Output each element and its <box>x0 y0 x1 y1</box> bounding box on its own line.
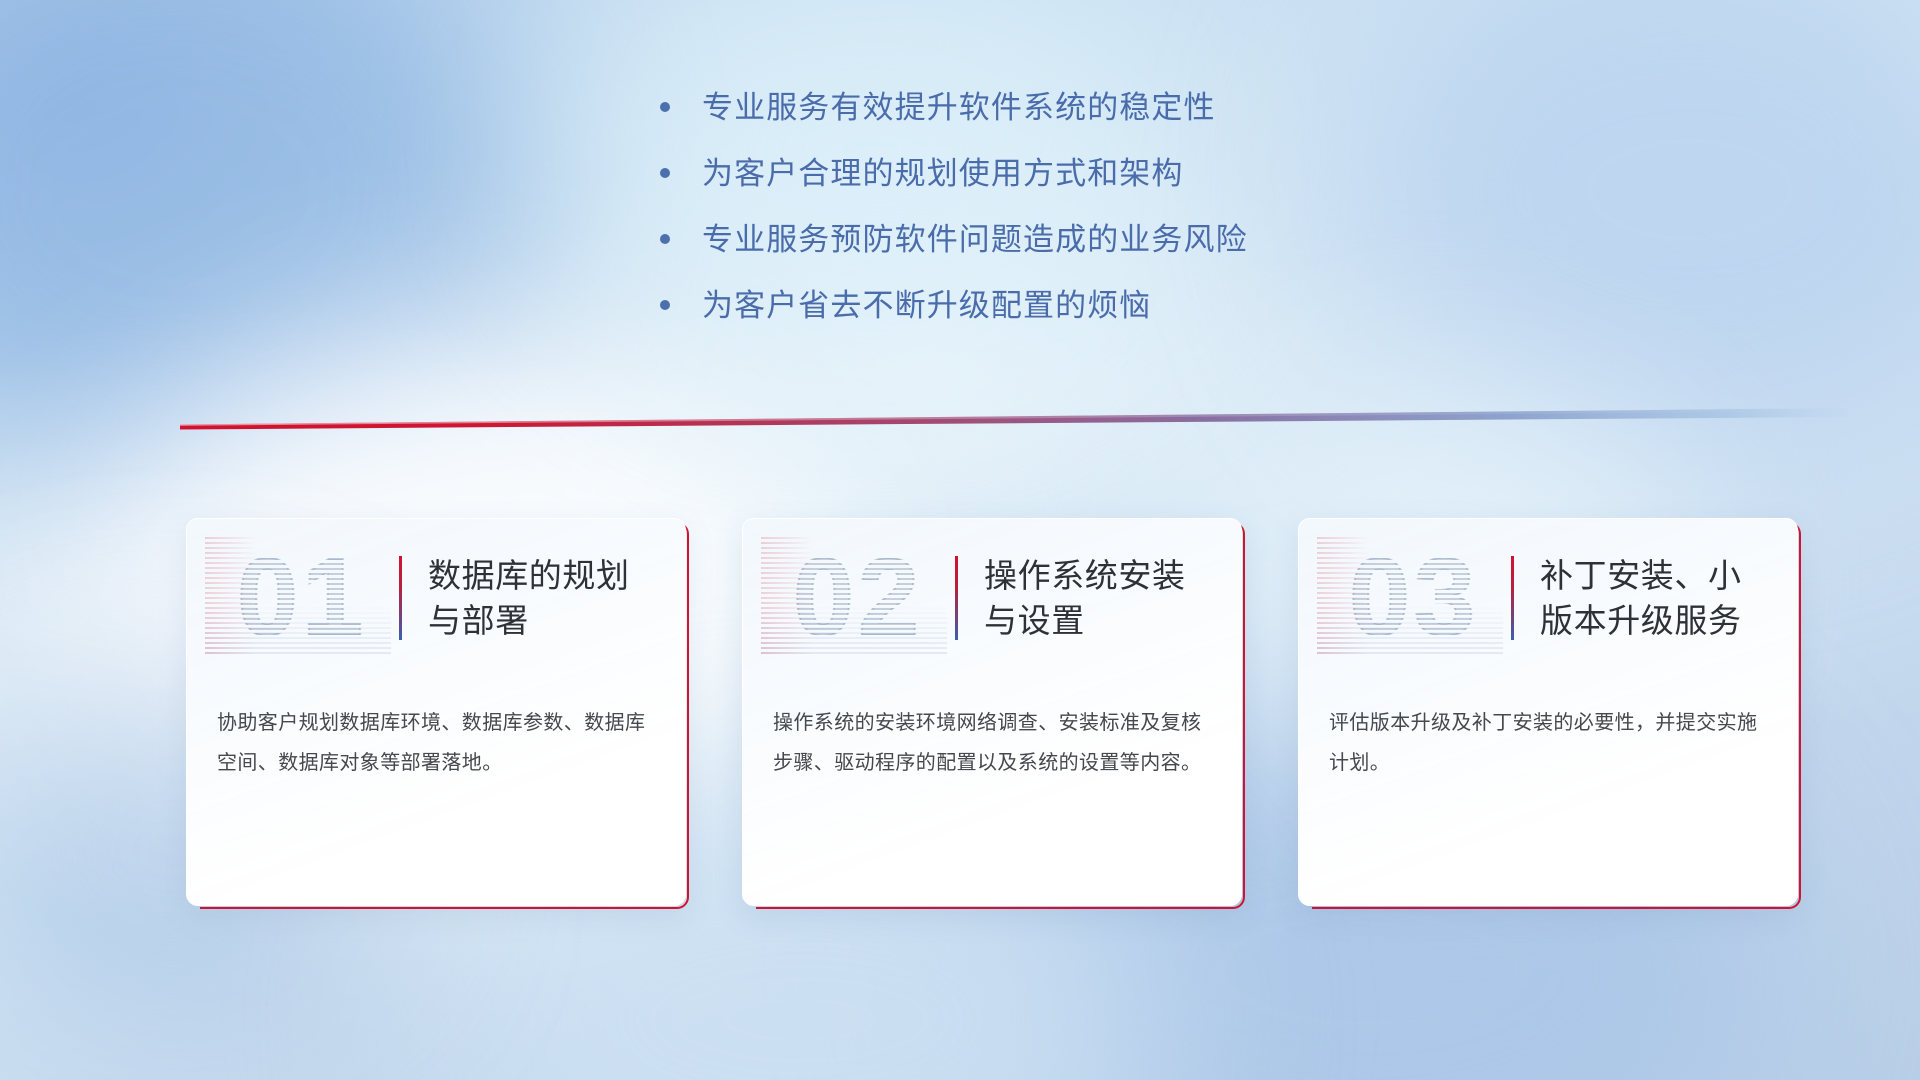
service-card[interactable]: 01 数据库的规划与部署 协助客户规划数据库环境、数据库参数、数据库空间、数据库… <box>186 518 686 906</box>
bullet-item: 为客户合理的规划使用方式和架构 <box>660 154 1560 220</box>
service-card-list: 01 数据库的规划与部署 协助客户规划数据库环境、数据库参数、数据库空间、数据库… <box>186 518 1798 906</box>
card-title-accent-bar <box>1511 556 1514 640</box>
card-number-watermark: 03 <box>1321 538 1507 658</box>
card-description: 评估版本升级及补丁安装的必要性，并提交实施计划。 <box>1299 677 1797 783</box>
bullet-item: 专业服务预防软件问题造成的业务风险 <box>660 220 1560 286</box>
background-gradient-blob <box>0 0 540 500</box>
bullet-dot-icon <box>660 168 670 178</box>
slide-canvas: 专业服务有效提升软件系统的稳定性 为客户合理的规划使用方式和架构 专业服务预防软… <box>0 0 1920 1080</box>
card-surface: 01 数据库的规划与部署 协助客户规划数据库环境、数据库参数、数据库空间、数据库… <box>186 518 686 906</box>
card-header: 02 操作系统安装与设置 <box>743 519 1241 677</box>
card-title-accent-bar <box>955 556 958 640</box>
card-number-watermark: 02 <box>765 538 951 658</box>
bullet-dot-icon <box>660 102 670 112</box>
bullet-item-label: 专业服务有效提升软件系统的稳定性 <box>702 88 1216 128</box>
bullet-dot-icon <box>660 300 670 310</box>
bullet-dot-icon <box>660 234 670 244</box>
card-surface: 03 补丁安装、小版本升级服务 评估版本升级及补丁安装的必要性，并提交实施计划。 <box>1298 518 1798 906</box>
card-header: 03 补丁安装、小版本升级服务 <box>1299 519 1797 677</box>
card-title: 补丁安装、小版本升级服务 <box>1540 553 1755 643</box>
card-header: 01 数据库的规划与部署 <box>187 519 685 677</box>
card-description: 操作系统的安装环境网络调查、安装标准及复核步骤、驱动程序的配置以及系统的设置等内… <box>743 677 1241 783</box>
service-card[interactable]: 03 补丁安装、小版本升级服务 评估版本升级及补丁安装的必要性，并提交实施计划。 <box>1298 518 1798 906</box>
card-description: 协助客户规划数据库环境、数据库参数、数据库空间、数据库对象等部署落地。 <box>187 677 685 783</box>
card-number-watermark: 01 <box>209 538 395 658</box>
benefits-bullet-list: 专业服务有效提升软件系统的稳定性 为客户合理的规划使用方式和架构 专业服务预防软… <box>660 88 1560 352</box>
card-title: 数据库的规划与部署 <box>428 553 643 643</box>
bullet-item: 专业服务有效提升软件系统的稳定性 <box>660 88 1560 154</box>
section-divider <box>180 408 1848 434</box>
bullet-item-label: 为客户合理的规划使用方式和架构 <box>702 154 1184 194</box>
service-card[interactable]: 02 操作系统安装与设置 操作系统的安装环境网络调查、安装标准及复核步骤、驱动程… <box>742 518 1242 906</box>
bullet-item: 为客户省去不断升级配置的烦恼 <box>660 286 1560 352</box>
card-surface: 02 操作系统安装与设置 操作系统的安装环境网络调查、安装标准及复核步骤、驱动程… <box>742 518 1242 906</box>
card-title: 操作系统安装与设置 <box>984 553 1199 643</box>
card-title-accent-bar <box>399 556 402 640</box>
divider-tapered-line-icon <box>180 408 1848 434</box>
bullet-item-label: 专业服务预防软件问题造成的业务风险 <box>702 220 1248 260</box>
bullet-item-label: 为客户省去不断升级配置的烦恼 <box>702 286 1151 326</box>
